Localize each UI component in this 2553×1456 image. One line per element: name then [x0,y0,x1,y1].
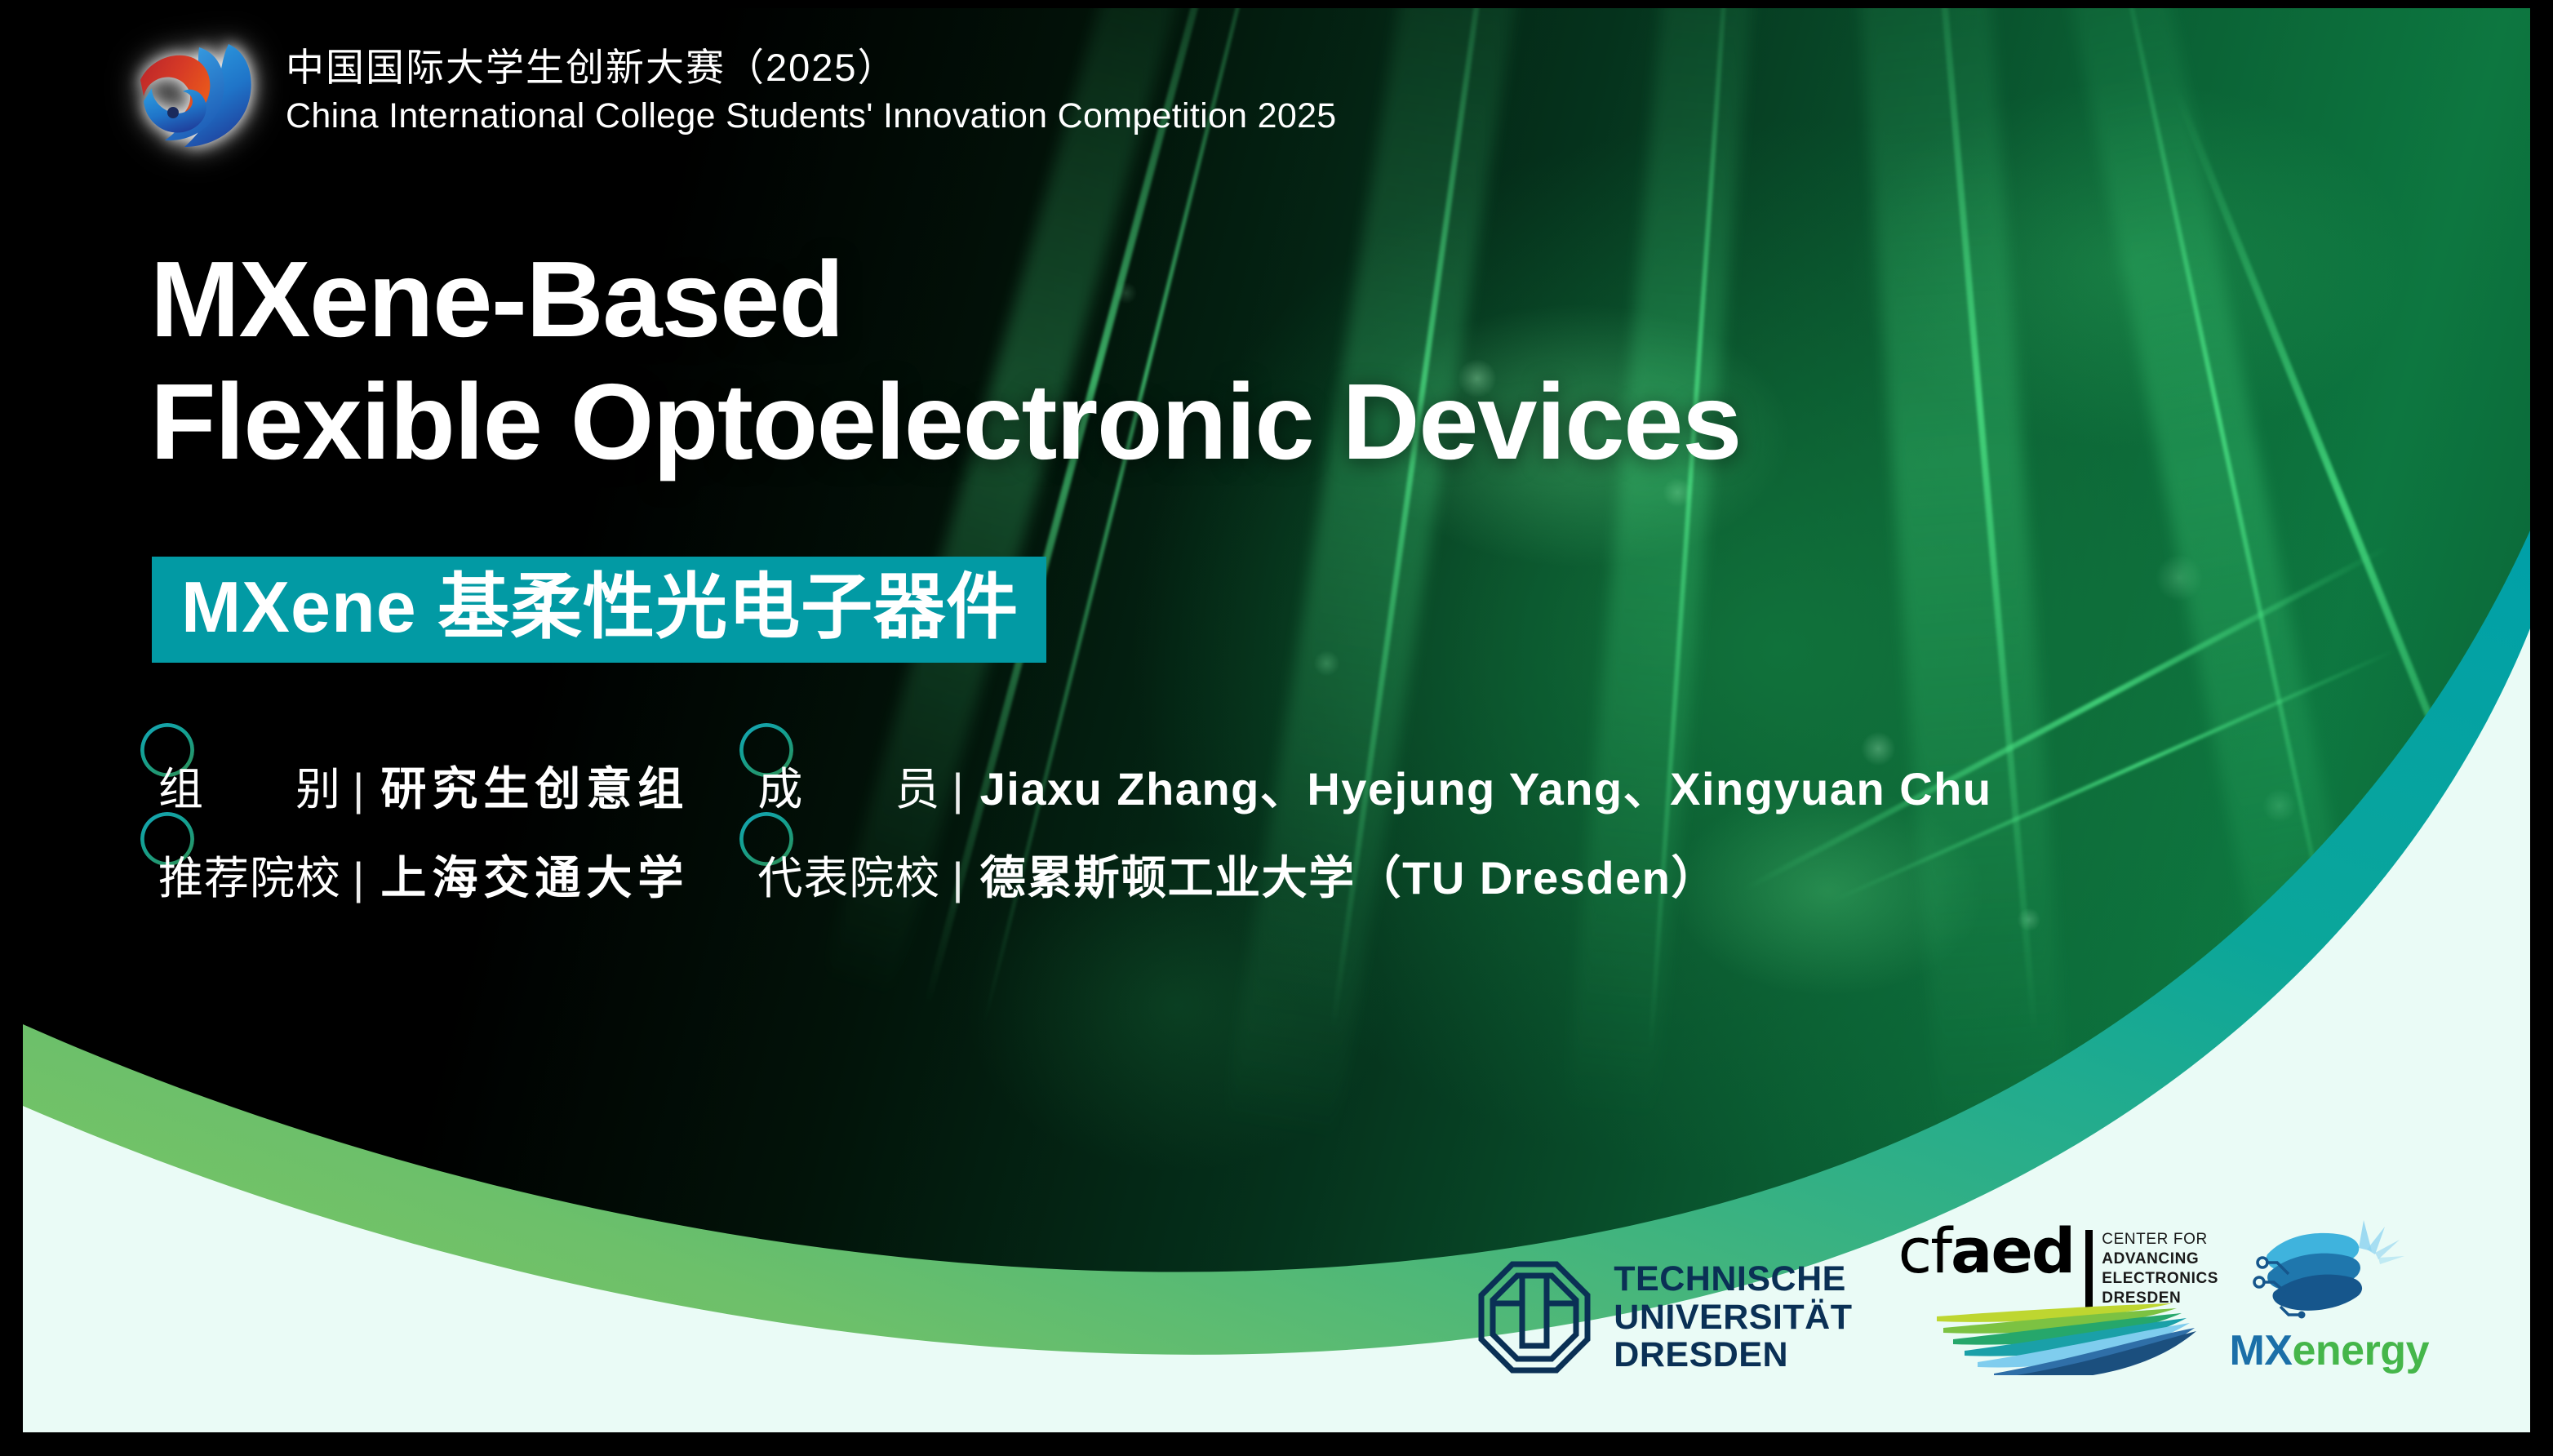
meta-value-group: 研究生创意组 [380,752,689,819]
project-title-line1: MXene-Based [150,238,1741,361]
meta-cell-representing-school: 代表院校 | 德累斯顿工业大学（TU Dresden） [757,841,1718,908]
cfaed-letters-aed: aed [1951,1214,2074,1287]
cfaed-letter-f: f [1930,1214,1951,1287]
competition-header: 中国国际大学生创新大赛（2025） China International Co… [121,26,1337,155]
mxenergy-word-energy: energy [2292,1327,2429,1374]
poster-root: 中国国际大学生创新大赛（2025） China International Co… [0,0,2553,1456]
poster-canvas: 中国国际大学生创新大赛（2025） China International Co… [23,8,2530,1432]
tud-line-2: UNIVERSITÄT [1614,1298,1852,1336]
meta-cell-group: 组 别 | 研究生创意组 [158,752,689,819]
meta-value-members: Jiaxu Zhang、Hyejung Yang、Xingyuan Chu [980,752,1992,819]
meta-cell-members: 成 员 | Jiaxu Zhang、Hyejung Yang、Xingyuan … [757,752,1991,819]
meta-value-recommending-school: 上海交通大学 [380,841,689,908]
project-title-line2: Flexible Optoelectronic Devices [150,361,1741,483]
cfaed-wordmark: cfaed [1898,1222,2074,1280]
competition-title-cn: 中国国际大学生创新大赛（2025） [286,42,1337,93]
meta-row: 推荐院校 | 上海交通大学 代表院校 | 德累斯顿工业大学（TU Dresden… [158,841,1992,908]
mxenergy-logo: MXenergy [2229,1215,2429,1375]
tu-dresden-logo: TECHNISCHE UNIVERSITÄT DRESDEN [1476,1259,1852,1375]
cfaed-sub-line-3: ELECTRONICS [2102,1269,2218,1289]
cfaed-letter-c: c [1898,1214,1930,1287]
meta-cell-recommending-school: 推荐院校 | 上海交通大学 [158,841,689,908]
meta-label-recommending-school: 推荐院校 [158,841,341,907]
cfaed-subtitle: CENTER FOR ADVANCING ELECTRONICS DRESDEN [2085,1230,2218,1308]
cfaed-sub-line-1: CENTER FOR [2102,1230,2218,1250]
tu-dresden-octagon-mark-icon [1476,1259,1592,1375]
tud-line-1: TECHNISCHE [1614,1260,1852,1298]
meta-info-block: 组 别 | 研究生创意组 成 员 | Jiaxu Zhang、Hyejung Y… [158,752,1992,908]
tud-line-3: DRESDEN [1614,1336,1852,1374]
project-subtitle-cn: MXene 基柔性光电子器件 [181,566,1019,648]
meta-row: 组 别 | 研究生创意组 成 员 | Jiaxu Zhang、Hyejung Y… [158,752,1992,819]
meta-value-representing-school: 德累斯顿工业大学（TU Dresden） [980,841,1718,908]
meta-label-members: 成 员 [757,752,940,818]
meta-separator: | [952,852,963,904]
cfaed-top-row: cfaed CENTER FOR ADVANCING ELECTRONICS D… [1898,1222,2183,1308]
cfaed-sub-line-2: ADVANCING [2102,1250,2218,1269]
competition-title-en: China International College Students' In… [286,93,1337,140]
meta-label-representing-school: 代表院校 [757,841,940,907]
footer-logo-row: TECHNISCHE UNIVERSITÄT DRESDEN cfaed CEN… [1476,1215,2429,1375]
competition-title-block: 中国国际大学生创新大赛（2025） China International Co… [286,42,1337,140]
mxenergy-wordmark: MXenergy [2229,1326,2429,1375]
tu-dresden-wordmark: TECHNISCHE UNIVERSITÄT DRESDEN [1614,1260,1852,1374]
mxenergy-word-mx: MX [2229,1327,2292,1374]
meta-separator: | [353,763,364,815]
meta-separator: | [353,852,364,904]
meta-label-group: 组 别 [158,752,341,818]
cfaed-swoosh-icon [1927,1303,2196,1375]
project-title: MXene-Based Flexible Optoelectronic Devi… [150,238,1741,484]
cfaed-logo: cfaed CENTER FOR ADVANCING ELECTRONICS D… [1898,1222,2183,1375]
mxenergy-stacked-layers-mark-icon [2253,1215,2406,1323]
china-innovation-competition-logo-icon [121,26,261,155]
meta-separator: | [952,763,963,815]
project-subtitle-bar: MXene 基柔性光电子器件 [152,557,1046,663]
